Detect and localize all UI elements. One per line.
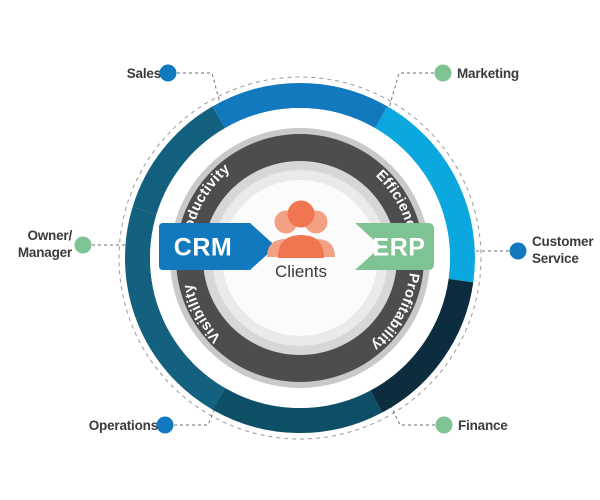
node-finance[interactable]: Finance [436, 417, 509, 434]
node-label-owner-manager-line1: Owner/ [27, 228, 72, 243]
node-label-operations: Operations [89, 418, 158, 433]
node-label-sales: Sales [127, 66, 161, 81]
erp-chip-label: ERP [373, 234, 426, 262]
node-dot-operations[interactable] [157, 417, 174, 434]
node-dot-marketing[interactable] [435, 65, 452, 82]
node-label-customer-service-line2: Service [532, 251, 579, 266]
node-dot-owner-manager[interactable] [75, 237, 92, 254]
node-label-owner-manager-line2: Manager [18, 245, 73, 260]
node-operations[interactable]: Operations [89, 417, 174, 434]
node-dot-finance[interactable] [436, 417, 453, 434]
node-owner-manager[interactable]: Owner/ Manager [18, 228, 92, 260]
diagram-canvas: Productivity Efficiency Visibility Profi… [0, 0, 600, 500]
node-dot-sales[interactable] [160, 65, 177, 82]
node-label-customer-service-line1: Customer [532, 234, 594, 249]
node-sales[interactable]: Sales [127, 65, 177, 82]
clients-label: Clients [275, 262, 327, 281]
node-dot-customer-service[interactable] [510, 243, 527, 260]
diagram-root: Productivity Efficiency Visibility Profi… [0, 0, 600, 500]
node-marketing[interactable]: Marketing [435, 65, 519, 82]
node-customer-service[interactable]: Customer Service [510, 234, 595, 266]
node-label-finance: Finance [458, 418, 508, 433]
crm-chip-label: CRM [174, 234, 232, 262]
node-label-marketing: Marketing [457, 66, 519, 81]
